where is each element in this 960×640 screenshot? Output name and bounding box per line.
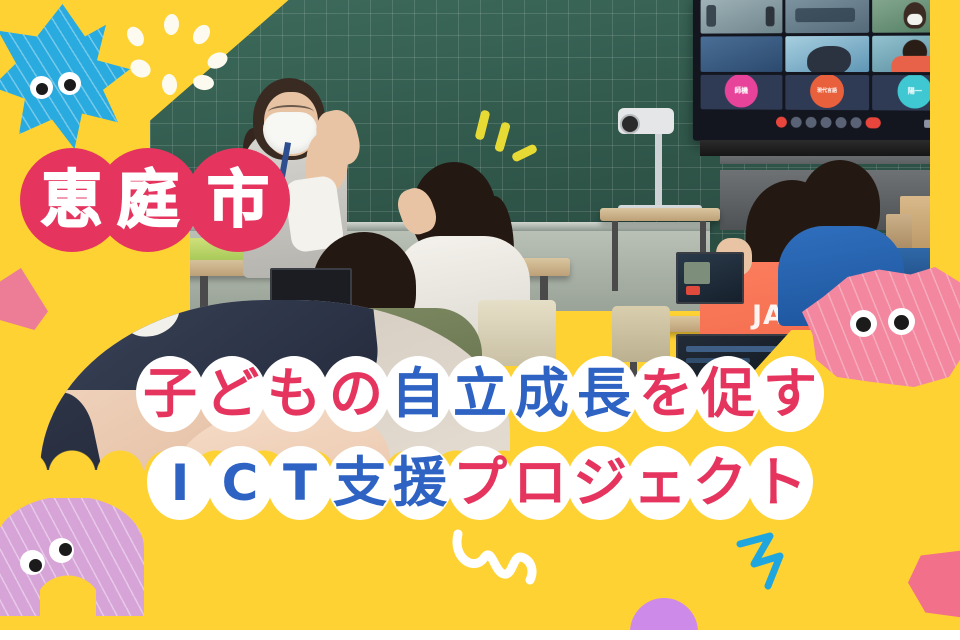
- headline-char: 促: [692, 352, 764, 436]
- video-tile[interactable]: [701, 0, 783, 34]
- headline-char: す: [754, 352, 826, 436]
- banner-canvas: 師機 現代言語 陽一: [0, 0, 960, 640]
- blob-eye: [49, 538, 74, 563]
- tile-label: [875, 103, 879, 109]
- headline-char-glyph: T: [283, 458, 317, 508]
- city-badge-circle: 市: [186, 148, 290, 252]
- bottom-white-edge: [0, 630, 960, 640]
- headline-char-glyph: す: [763, 367, 817, 421]
- headline-char: ク: [685, 442, 755, 524]
- headline-line-2: ICT支援プロジェクト: [0, 442, 960, 524]
- chat-icon[interactable]: [820, 117, 831, 128]
- video-icon[interactable]: [790, 117, 801, 128]
- headline-char-glyph: 子: [143, 367, 197, 421]
- call-control-bar[interactable]: [776, 117, 881, 129]
- blue-zigzag-line: [736, 530, 820, 592]
- headline: 子どもの自立成長を促す ICT支援プロジェクト: [0, 352, 960, 526]
- white-sunburst-dots: [118, 14, 228, 96]
- tile-label: [825, 103, 829, 109]
- display-bezel-bottom: [700, 140, 958, 156]
- headline-char: 援: [385, 442, 455, 524]
- headline-char-glyph: ジ: [573, 456, 627, 510]
- headline-char-glyph: 長: [577, 367, 631, 421]
- desk-leg: [612, 221, 618, 291]
- mic-icon[interactable]: [776, 117, 787, 128]
- share-icon[interactable]: [805, 117, 816, 128]
- headline-char: の: [320, 352, 392, 436]
- video-tile[interactable]: [701, 37, 783, 72]
- headline-char: を: [630, 352, 702, 436]
- headline-char-glyph: ロ: [513, 456, 567, 510]
- headline-char: も: [258, 352, 330, 436]
- headline-char-glyph: C: [222, 458, 259, 508]
- headline-char: ェ: [625, 442, 695, 524]
- laptop-screen: [676, 252, 744, 304]
- city-badge: 恵 庭 市: [20, 148, 276, 252]
- video-tile[interactable]: 師機: [701, 75, 783, 110]
- blob-eye: [58, 72, 81, 95]
- headline-char-glyph: I: [171, 458, 190, 508]
- headline-char-glyph: 成: [515, 367, 569, 421]
- blob-eye: [888, 308, 915, 335]
- headline-char: ト: [745, 442, 815, 524]
- participant-avatar: 師機: [725, 75, 758, 108]
- headline-char-glyph: ク: [693, 456, 747, 510]
- wall-display: 師機 現代言語 陽一: [693, 0, 960, 143]
- participants-icon[interactable]: [835, 117, 846, 128]
- tile-label: [703, 65, 707, 71]
- headline-char-glyph: プ: [453, 456, 507, 510]
- headline-char: 支: [325, 442, 395, 524]
- camera-lens-icon: [620, 114, 640, 134]
- headline-char-glyph: ェ: [633, 456, 687, 510]
- headline-char-glyph: の: [329, 367, 383, 421]
- headline-char-glyph: 自: [391, 367, 445, 421]
- more-icon[interactable]: [850, 117, 861, 128]
- headline-line-1: 子どもの自立成長を促す: [0, 352, 960, 436]
- headline-char-glyph: 促: [701, 367, 755, 421]
- blob-eye: [20, 550, 45, 575]
- city-badge-char: 市: [207, 169, 269, 231]
- headline-char-glyph: ど: [205, 367, 259, 421]
- blob-eye: [30, 76, 53, 99]
- headline-char: 長: [568, 352, 640, 436]
- headline-char: 成: [506, 352, 578, 436]
- headline-char-glyph: 立: [453, 367, 507, 421]
- video-tile[interactable]: [785, 0, 869, 34]
- headline-char-glyph: 支: [333, 456, 387, 510]
- video-call-grid: 師機 現代言語 陽一: [701, 0, 958, 111]
- headline-char: プ: [445, 442, 515, 524]
- headline-char-glyph: ト: [753, 456, 807, 510]
- headline-char: ど: [196, 352, 268, 436]
- headline-char: 自: [382, 352, 454, 436]
- headline-char-glyph: も: [267, 367, 321, 421]
- headline-char: 立: [444, 352, 516, 436]
- video-tile[interactable]: 現代言語: [785, 75, 869, 111]
- white-squiggle-line: [450, 528, 570, 604]
- headline-char: ジ: [565, 442, 635, 524]
- city-badge-char: 恵: [41, 169, 103, 231]
- headline-char-glyph: を: [639, 367, 693, 421]
- end-call-icon[interactable]: [865, 117, 880, 128]
- headline-char: 子: [134, 352, 206, 436]
- blob-eye: [850, 310, 877, 337]
- video-tile[interactable]: [785, 36, 869, 72]
- tile-label: [703, 102, 707, 108]
- headline-char-glyph: 援: [393, 456, 447, 510]
- desk: [600, 208, 720, 221]
- city-badge-circle: 庭: [96, 148, 200, 252]
- participant-avatar: 陽一: [898, 75, 933, 109]
- headline-char: ロ: [505, 442, 575, 524]
- city-badge-char: 庭: [117, 169, 179, 231]
